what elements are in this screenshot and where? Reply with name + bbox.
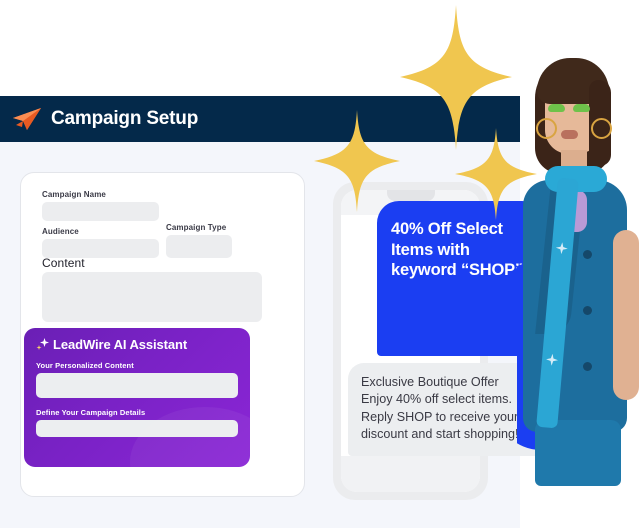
campaign-type-label: Campaign Type [166,223,226,232]
campaign-name-label: Campaign Name [42,190,106,199]
campaign-details-label: Define Your Campaign Details [36,408,238,417]
campaign-form-card: Campaign Name Audience Campaign Type Con… [20,172,305,497]
page-title: Campaign Setup [51,108,198,130]
sparkle-medium-icon [314,110,400,212]
promo-line-1: 40% Off [391,220,451,238]
content-label: Content [42,256,85,270]
personalized-content-input[interactable] [36,373,238,398]
campaign-type-input[interactable] [166,235,232,258]
audience-label: Audience [42,227,79,236]
sparkle-small-icon [455,128,537,220]
ai-assistant-title: LeadWire AI Assistant [53,337,187,352]
campaign-name-input[interactable] [42,202,159,221]
sparkle-icon [36,338,49,352]
paper-plane-icon [12,106,42,132]
personalized-content-label: Your Personalized Content [36,361,238,370]
ai-assistant-panel: LeadWire AI Assistant Your Personalized … [24,328,250,467]
fashion-model-photo [517,54,643,528]
promo-line-4: “SHOP” [461,261,523,279]
ai-assistant-header: LeadWire AI Assistant [36,337,238,352]
campaign-details-input[interactable] [36,420,238,437]
campaign-setup-mockup: Campaign Setup Campaign Name Audience Ca… [0,0,643,528]
content-textarea[interactable] [42,272,262,322]
phone-bottom-bar [341,456,480,492]
